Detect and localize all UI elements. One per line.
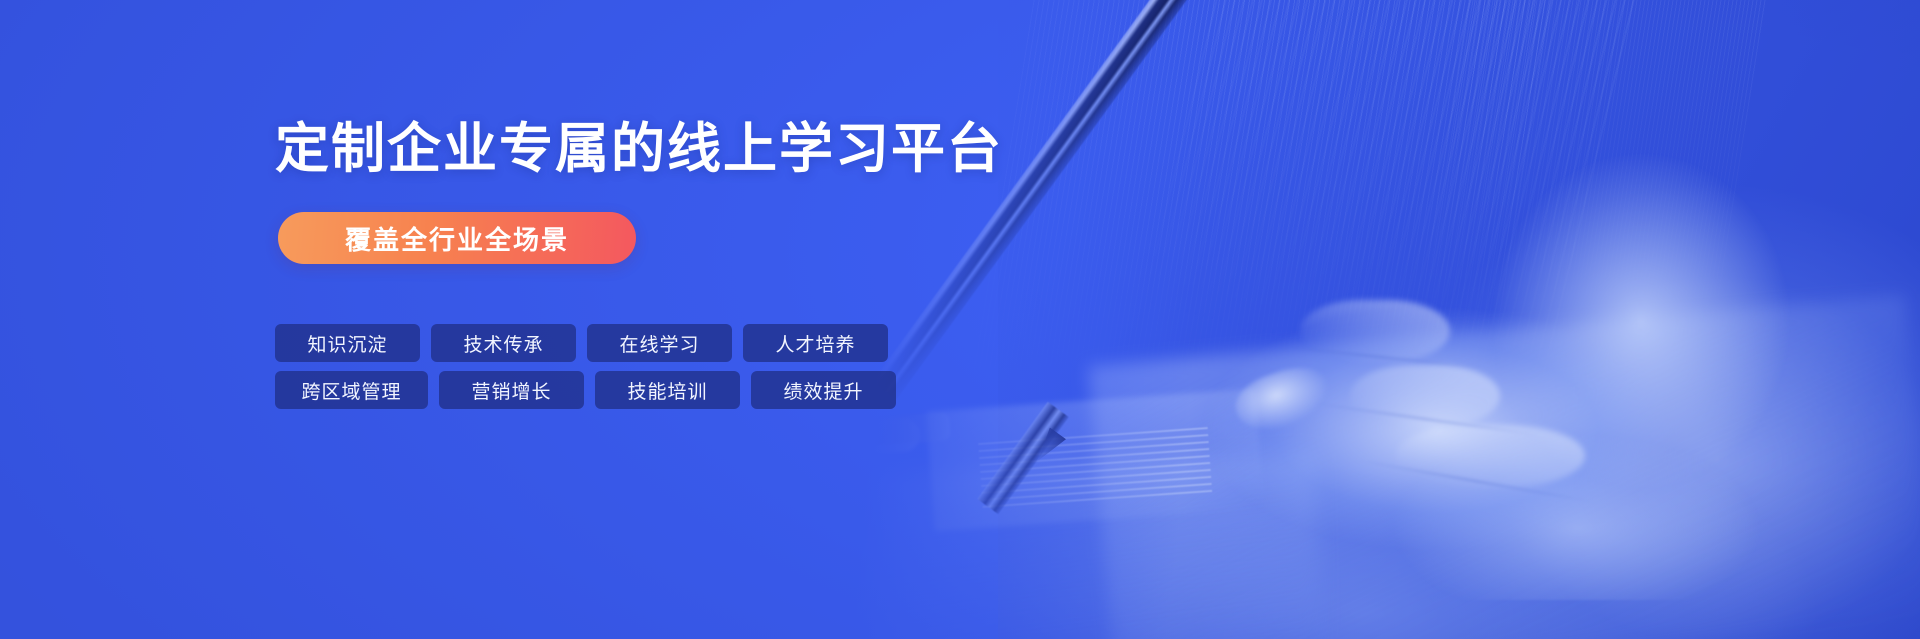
tag-knowledge-precipitation[interactable]: 知识沉淀	[275, 324, 420, 362]
tag-row-1: 知识沉淀 技术传承 在线学习 人才培养	[275, 324, 896, 362]
tag-performance-improvement[interactable]: 绩效提升	[751, 371, 896, 409]
tag-label: 人才培养	[775, 330, 855, 357]
knuckle-shape-3	[1395, 425, 1585, 487]
tag-label: 技术传承	[463, 330, 543, 357]
tag-row-2: 跨区域管理 营销增长 技能培训 绩效提升	[275, 371, 896, 409]
tag-label: 绩效提升	[783, 377, 863, 404]
tag-label: 技能培训	[627, 377, 707, 404]
tag-label: 在线学习	[619, 330, 699, 357]
knuckle-shape	[1300, 300, 1450, 362]
tag-label: 跨区域管理	[301, 377, 401, 404]
tag-list: 知识沉淀 技术传承 在线学习 人才培养 跨区域管理 营销增长 技能培训 绩效提升	[275, 324, 896, 409]
tag-cross-region-management[interactable]: 跨区域管理	[275, 371, 428, 409]
banner-content: 定制企业专属的线上学习平台 覆盖全行业全场景 知识沉淀 技术传承 在线学习 人才…	[275, 0, 1175, 639]
hero-banner: 定制企业专属的线上学习平台 覆盖全行业全场景 知识沉淀 技术传承 在线学习 人才…	[0, 0, 1920, 639]
tag-label: 知识沉淀	[307, 330, 387, 357]
tag-talent-development[interactable]: 人才培养	[743, 324, 888, 362]
tag-skills-training[interactable]: 技能培训	[595, 371, 740, 409]
tag-technology-inheritance[interactable]: 技术传承	[431, 324, 576, 362]
coverage-badge-label: 覆盖全行业全场景	[345, 220, 569, 257]
tag-label: 营销增长	[471, 377, 551, 404]
tag-online-learning[interactable]: 在线学习	[587, 324, 732, 362]
page-title: 定制企业专属的线上学习平台	[275, 117, 1003, 182]
coverage-badge[interactable]: 覆盖全行业全场景	[278, 212, 636, 264]
tag-marketing-growth[interactable]: 营销增长	[439, 371, 584, 409]
